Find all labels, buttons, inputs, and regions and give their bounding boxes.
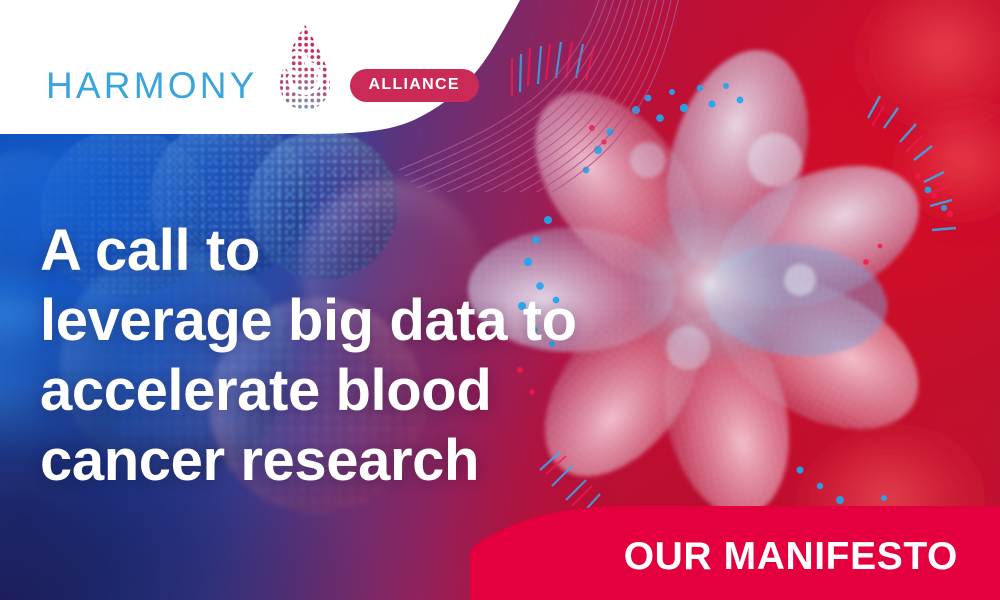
harmony-logo[interactable]: HARMONY	[46, 56, 479, 114]
promotional-banner: HARMONY	[0, 0, 1000, 600]
headline-line-3: accelerate blood	[40, 356, 700, 426]
headline-line-1: A call to	[40, 216, 700, 286]
manifesto-banner[interactable]: OUR MANIFESTO	[470, 506, 1000, 600]
headline-line-4: cancer research	[40, 426, 700, 496]
manifesto-label: OUR MANIFESTO	[624, 537, 958, 576]
alliance-badge: ALLIANCE	[350, 69, 479, 102]
page-title: A call to leverage big data to accelerat…	[40, 216, 700, 496]
headline-line-2: leverage big data to	[40, 286, 700, 356]
logo-wordmark: HARMONY	[46, 67, 258, 104]
blood-droplet-icon	[272, 23, 338, 123]
